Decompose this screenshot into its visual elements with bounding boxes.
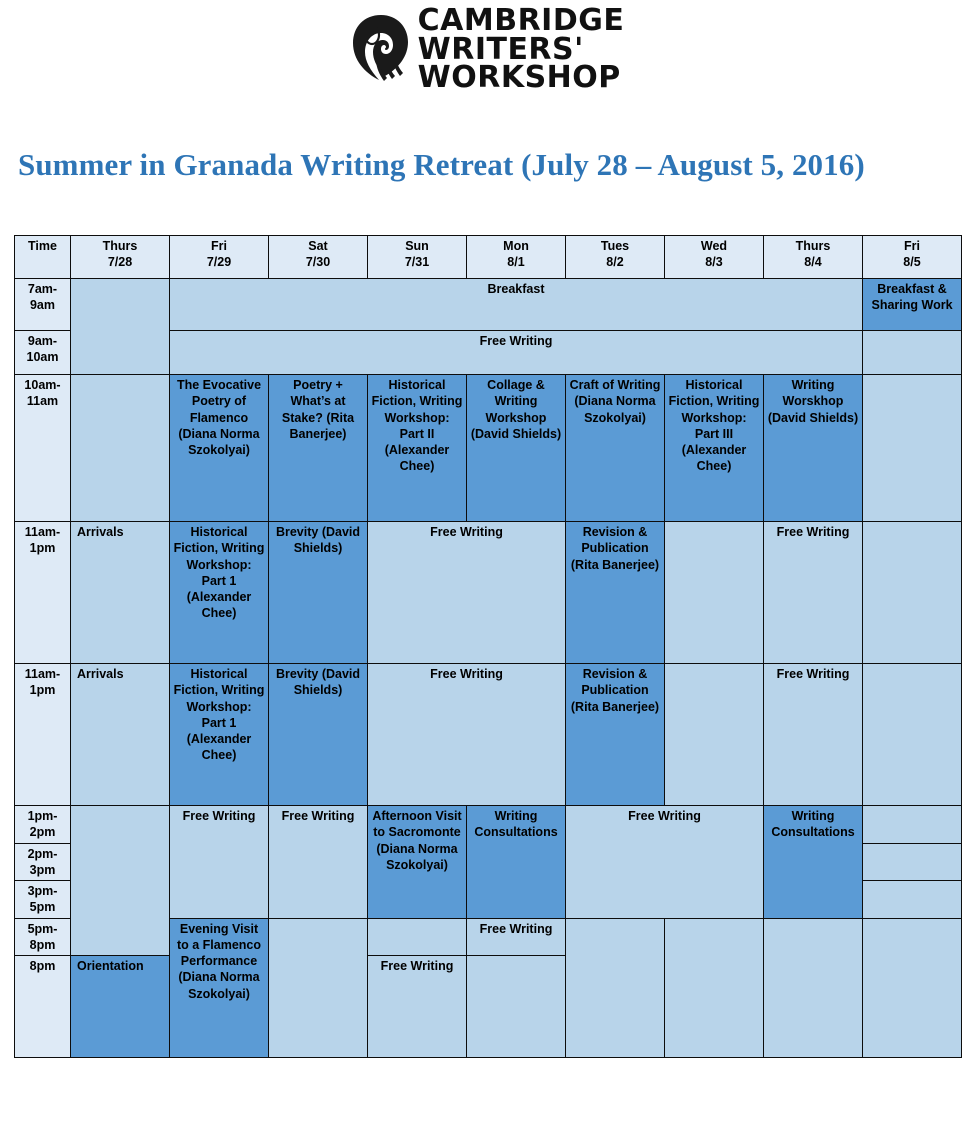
header-date-1: 7/28 <box>74 254 166 270</box>
table-header-row: Time Thurs 7/28 Fri 7/29 Sat 7/30 Sun 7/… <box>15 236 962 279</box>
cell-brevity-a: Brevity (David Shields) <box>269 522 368 664</box>
cell-free-writing-11am-a: Free Writing <box>368 522 566 664</box>
header-day-3: Sat <box>272 238 364 254</box>
cell-evening-visit-flamenco: Evening Visit to a Flamenco Performance … <box>170 918 269 1058</box>
header-day-7: Wed <box>668 238 760 254</box>
header-day-9: Fri <box>866 238 958 254</box>
header-day-2: Fri <box>173 238 265 254</box>
time-label-9am-10am: 9am-10am <box>15 331 71 375</box>
cell-breakfast-sharing-work: Breakfast & Sharing Work <box>863 279 962 331</box>
cell-fri85-3pm-empty <box>863 881 962 919</box>
cell-free-writing-11am-b: Free Writing <box>368 664 566 806</box>
cell-collage-writing-workshop: Collage & Writing Workshop (David Shield… <box>467 375 566 522</box>
schedule-table-container: Time Thurs 7/28 Fri 7/29 Sat 7/30 Sun 7/… <box>0 183 974 1058</box>
cell-fri85-2pm-empty <box>863 843 962 881</box>
table-row-11am-1pm-b: 11am-1pm Arrivals Historical Fiction, Wr… <box>15 664 962 806</box>
header-date-2: 7/29 <box>173 254 265 270</box>
table-row-10am-11am: 10am-11am The Evocative Poetry of Flamen… <box>15 375 962 522</box>
header-cell-fri-85: Fri 8/5 <box>863 236 962 279</box>
cell-arrivals-a: Arrivals <box>71 522 170 664</box>
header-cell-time: Time <box>15 236 71 279</box>
header-cell-sun-731: Sun 7/31 <box>368 236 467 279</box>
page-title: Summer in Granada Writing Retreat (July … <box>0 92 974 183</box>
header-date-7: 8/3 <box>668 254 760 270</box>
logo-line-workshop: WORKSHOP <box>418 64 625 93</box>
time-label-5pm-8pm: 5pm-8pm <box>15 918 71 956</box>
cell-revision-publication-b: Revision & Publication (Rita Banerjee) <box>566 664 665 806</box>
cell-mon81-8pm-empty <box>467 956 566 1058</box>
header-date-3: 7/30 <box>272 254 364 270</box>
time-label-11am-1pm-a: 11am-1pm <box>15 522 71 664</box>
cell-thurs728-10am-empty <box>71 375 170 522</box>
cell-fri85-1pm-empty <box>863 806 962 844</box>
time-label-3pm-5pm: 3pm-5pm <box>15 881 71 919</box>
time-label-8pm: 8pm <box>15 956 71 1058</box>
header-day-8: Thurs <box>767 238 859 254</box>
header-day-4: Sun <box>371 238 463 254</box>
header-day-0: Time <box>18 238 67 254</box>
cell-fri85-evening-empty <box>863 918 962 1058</box>
cell-historical-fiction-part-1-b: Historical Fiction, Writing Workshop: Pa… <box>170 664 269 806</box>
time-label-11am-1pm-b: 11am-1pm <box>15 664 71 806</box>
cell-wed83-11am-empty-a <box>665 522 764 664</box>
time-label-7am-9am: 7am-9am <box>15 279 71 331</box>
cell-sun731-5pm-empty <box>368 918 467 956</box>
cell-poetry-whats-at-stake: Poetry + What’s at Stake? (Rita Banerjee… <box>269 375 368 522</box>
time-label-2pm-3pm: 2pm-3pm <box>15 843 71 881</box>
table-row-7am-9am: 7am-9am Breakfast Breakfast & Sharing Wo… <box>15 279 962 331</box>
logo-lockup: CAMBRIDGE WRITERS' WORKSHOP <box>350 7 625 93</box>
cell-thurs728-afternoon-empty <box>71 806 170 956</box>
header-date-8: 8/4 <box>767 254 859 270</box>
header-date-6: 8/2 <box>569 254 661 270</box>
time-label-1pm-2pm: 1pm-2pm <box>15 806 71 844</box>
header-date-4: 7/31 <box>371 254 463 270</box>
cell-writing-consultations-mon: Writing Consultations <box>467 806 566 919</box>
cell-historical-fiction-part-2: Historical Fiction, Writing Workshop: Pa… <box>368 375 467 522</box>
cambridge-writers-workshop-bird-logo-icon <box>350 13 412 87</box>
cell-free-writing-morning: Free Writing <box>170 331 863 375</box>
cell-free-writing-mon81-evening: Free Writing <box>467 918 566 956</box>
retreat-schedule-table: Time Thurs 7/28 Fri 7/29 Sat 7/30 Sun 7/… <box>14 235 962 1058</box>
table-row-11am-1pm-a: 11am-1pm Arrivals Historical Fiction, Wr… <box>15 522 962 664</box>
cell-revision-publication-a: Revision & Publication (Rita Banerjee) <box>566 522 665 664</box>
cell-tues82-evening-empty <box>566 918 665 1058</box>
cell-craft-of-writing: Craft of Writing (Diana Norma Szokolyai) <box>566 375 665 522</box>
header-cell-thurs-84: Thurs 8/4 <box>764 236 863 279</box>
logo-wordmark: CAMBRIDGE WRITERS' WORKSHOP <box>418 7 625 93</box>
time-label-10am-11am: 10am-11am <box>15 375 71 522</box>
cell-afternoon-visit-sacromonte: Afternoon Visit to Sacromonte (Diana Nor… <box>368 806 467 919</box>
header-cell-thurs-728: Thurs 7/28 <box>71 236 170 279</box>
header-cell-tues-82: Tues 8/2 <box>566 236 665 279</box>
cell-orientation: Orientation <box>71 956 170 1058</box>
cell-wed83-evening-empty <box>665 918 764 1058</box>
table-row-1pm-2pm: 1pm-2pm Free Writing Free Writing Aftern… <box>15 806 962 844</box>
cell-writing-workshop-shields: Writing Worskhop (David Shields) <box>764 375 863 522</box>
header-cell-sat-730: Sat 7/30 <box>269 236 368 279</box>
cell-free-writing-thurs84-b: Free Writing <box>764 664 863 806</box>
cell-free-writing-thurs84-a: Free Writing <box>764 522 863 664</box>
header-date-5: 8/1 <box>470 254 562 270</box>
cell-fri85-11am-empty-a <box>863 522 962 664</box>
header-day-1: Thurs <box>74 238 166 254</box>
cell-historical-fiction-part-1-a: Historical Fiction, Writing Workshop: Pa… <box>170 522 269 664</box>
cell-free-writing-sun731-evening: Free Writing <box>368 956 467 1058</box>
cell-thurs728-morning-empty <box>71 279 170 375</box>
cell-free-writing-fri729-afternoon: Free Writing <box>170 806 269 919</box>
cell-evocative-poetry-flamenco: The Evocative Poetry of Flamenco (Diana … <box>170 375 269 522</box>
cell-brevity-b: Brevity (David Shields) <box>269 664 368 806</box>
header-cell-fri-729: Fri 7/29 <box>170 236 269 279</box>
header-day-5: Mon <box>470 238 562 254</box>
header-cell-mon-81: Mon 8/1 <box>467 236 566 279</box>
header-day-6: Tues <box>569 238 661 254</box>
brand-header: CAMBRIDGE WRITERS' WORKSHOP <box>0 0 974 92</box>
cell-thurs84-evening-empty <box>764 918 863 1058</box>
cell-free-writing-sat730-afternoon: Free Writing <box>269 806 368 919</box>
cell-fri85-10am-empty <box>863 375 962 522</box>
cell-sat730-evening-empty <box>269 918 368 1058</box>
cell-arrivals-b: Arrivals <box>71 664 170 806</box>
header-date-9: 8/5 <box>866 254 958 270</box>
cell-fri85-9am-empty <box>863 331 962 375</box>
cell-breakfast: Breakfast <box>170 279 863 331</box>
cell-historical-fiction-part-3: Historical Fiction, Writing Workshop: Pa… <box>665 375 764 522</box>
header-cell-wed-83: Wed 8/3 <box>665 236 764 279</box>
cell-wed83-11am-empty-b <box>665 664 764 806</box>
cell-free-writing-tues-wed-afternoon: Free Writing <box>566 806 764 919</box>
cell-fri85-11am-empty-b <box>863 664 962 806</box>
cell-writing-consultations-thurs: Writing Consultations <box>764 806 863 919</box>
